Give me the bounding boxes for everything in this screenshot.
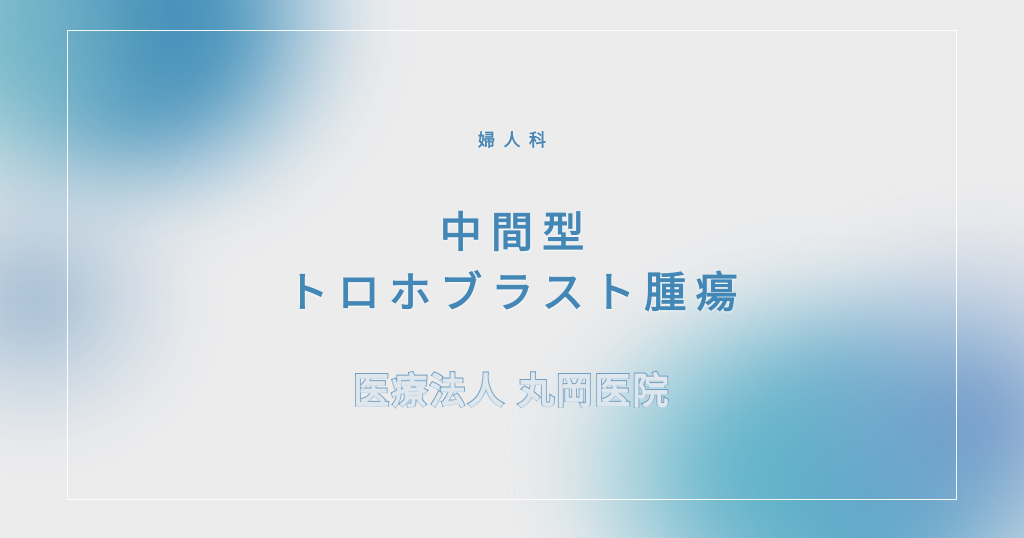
clinic-name: 医療法人 丸岡医院: [353, 362, 670, 414]
page-title: 中間型 トロホブラスト腫瘍: [277, 203, 747, 324]
page-title-line-2: トロホブラスト腫瘍: [277, 263, 747, 323]
eyecatch-banner: 婦人科 中間型 トロホブラスト腫瘍 医療法人 丸岡医院: [0, 0, 1024, 538]
page-title-line-1: 中間型: [277, 203, 747, 263]
category-label: 婦人科: [470, 126, 555, 151]
banner-content: 婦人科 中間型 トロホブラスト腫瘍 医療法人 丸岡医院: [0, 0, 1024, 538]
